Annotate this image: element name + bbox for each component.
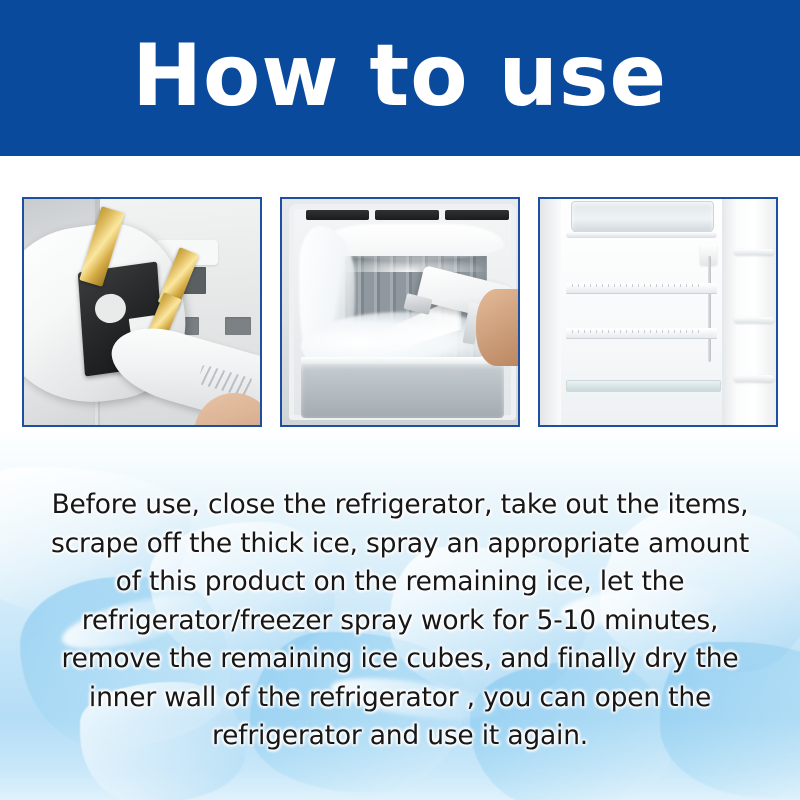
fridge-door bbox=[722, 199, 776, 425]
panel-unplug-photo bbox=[22, 197, 262, 427]
photo-strip bbox=[22, 197, 778, 427]
panel-spray-frost-photo bbox=[280, 197, 520, 427]
fridge-wire-shelf bbox=[566, 283, 717, 294]
hand-holding-spray-bottle bbox=[476, 289, 520, 366]
fridge-door-shelf bbox=[734, 249, 774, 256]
freezer-vent bbox=[306, 210, 370, 220]
freezer-vent-group bbox=[306, 210, 509, 220]
instruction-text: Before use, close the refrigerator, take… bbox=[38, 486, 762, 756]
fridge-door-shelf bbox=[734, 317, 774, 324]
socket-neutral-slot bbox=[225, 317, 251, 335]
header-banner: How to use bbox=[0, 0, 800, 156]
how-to-use-infographic: How to use bbox=[0, 0, 800, 800]
fridge-shelf-rail bbox=[708, 256, 712, 362]
freezer-vent bbox=[445, 210, 509, 220]
fridge-bin-lip bbox=[566, 232, 717, 238]
fridge-left-wall bbox=[540, 199, 561, 425]
freezer-drawer bbox=[301, 364, 504, 418]
panel-clean-fridge-photo bbox=[538, 197, 778, 427]
fridge-wire-shelf bbox=[566, 328, 717, 339]
fridge-door-shelf bbox=[734, 375, 774, 382]
freezer-vent bbox=[375, 210, 439, 220]
fridge-crisper-bin bbox=[571, 201, 715, 232]
fridge-glass-shelf bbox=[566, 380, 721, 392]
page-title: How to use bbox=[133, 33, 668, 119]
